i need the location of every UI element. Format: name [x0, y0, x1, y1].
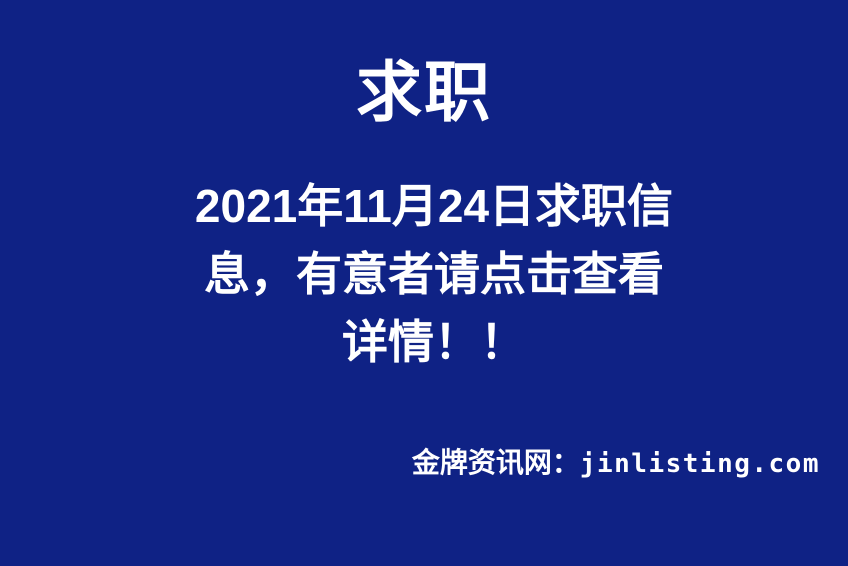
poster-banner: 求职 2021年11月24日求职信 息，有意者请点击查看 详情！！ 金牌资讯网：… [0, 0, 848, 566]
page-title: 求职 [0, 52, 848, 132]
site-attribution: 金牌资讯网：jinlisting.com [412, 446, 820, 485]
site-url: jinlisting.com [580, 449, 820, 479]
announcement-text: 2021年11月24日求职信 息，有意者请点击查看 详情！！ [160, 172, 708, 376]
announcement-line-1: 2021年11月24日求职信 [160, 172, 708, 240]
site-name-label: 金牌资讯网： [412, 447, 580, 478]
announcement-line-2: 息，有意者请点击查看 [160, 240, 708, 308]
announcement-line-3: 详情！！ [160, 308, 708, 376]
